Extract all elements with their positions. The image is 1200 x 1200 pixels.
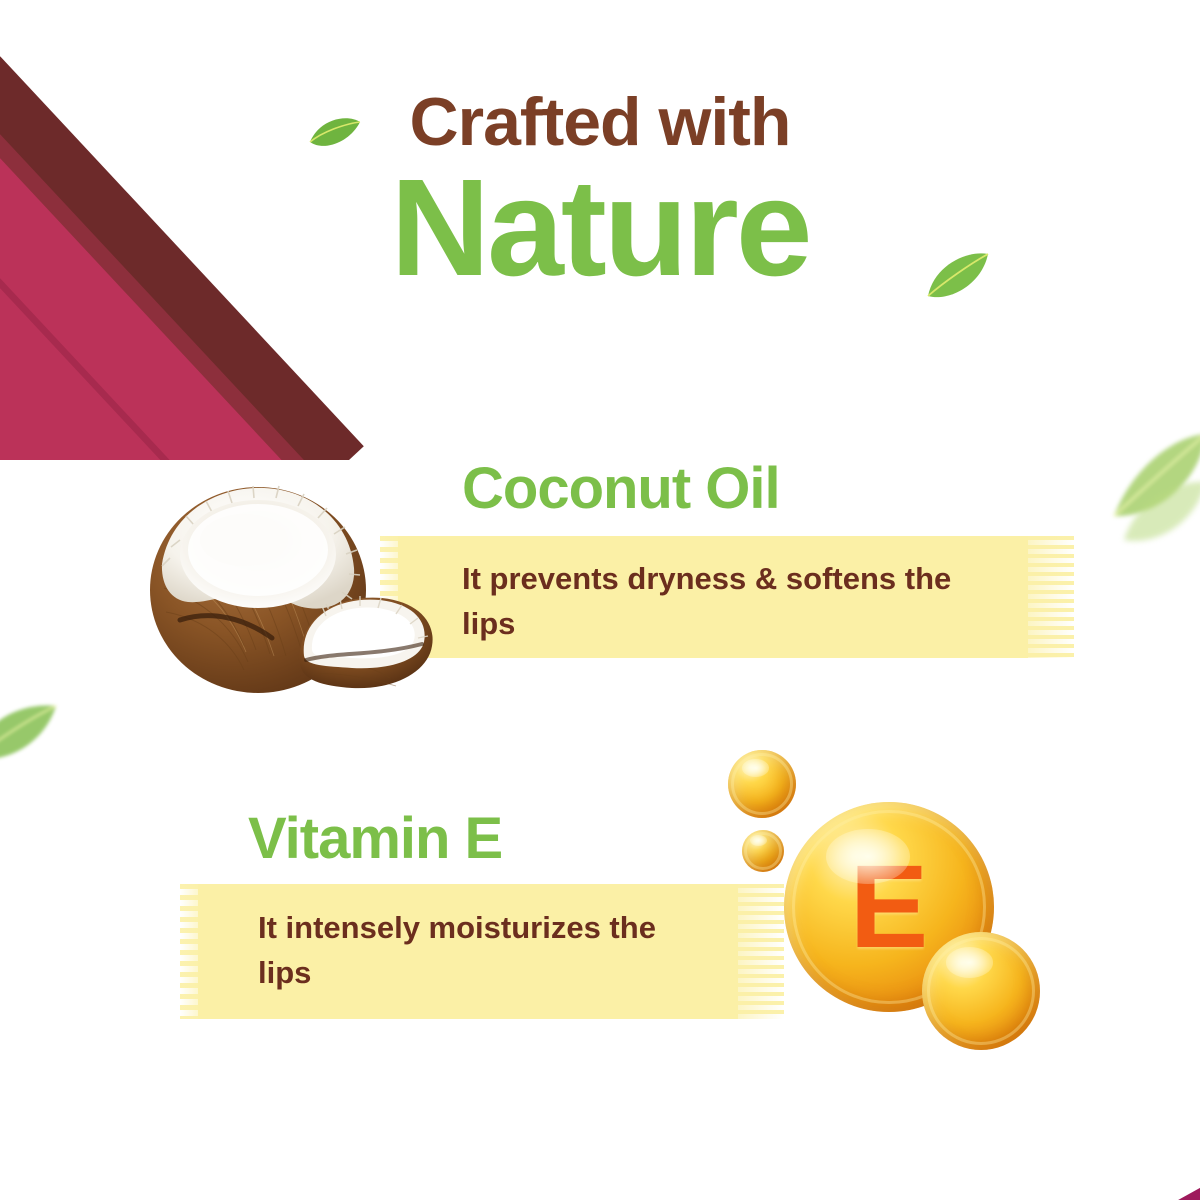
leaf-right-edge-lower-icon xyxy=(1120,478,1200,548)
vitamin-e-capsule-image: E xyxy=(722,742,1057,1052)
capsule-highlight xyxy=(946,947,993,978)
capsule-bubble-bottom-right xyxy=(922,932,1040,1050)
vitamin-e-title: Vitamin E xyxy=(248,805,502,872)
poster-canvas: Crafted with Nature Coconut Oil It preve… xyxy=(0,0,1200,1200)
stripe-magenta-dark xyxy=(780,1182,1200,1200)
coconut-oil-description: It prevents dryness & softens the lips xyxy=(462,557,1002,647)
headline-line-2: Nature xyxy=(0,158,1200,299)
capsule-highlight xyxy=(826,829,910,884)
capsule-highlight xyxy=(742,759,769,777)
coconut-oil-title: Coconut Oil xyxy=(462,455,780,522)
leaf-left-lower-icon xyxy=(0,700,58,766)
vitamin-e-description: It intensely moisturizes the lips xyxy=(258,906,698,996)
coconut-halves-image xyxy=(140,470,440,705)
leaf-right-mid-icon xyxy=(1108,432,1200,524)
capsule-bubble-tiny xyxy=(742,830,784,872)
headline-line-1: Crafted with xyxy=(0,88,1200,156)
stripe-magenta xyxy=(780,1051,1200,1200)
headline-block: Crafted with Nature xyxy=(0,88,1200,299)
